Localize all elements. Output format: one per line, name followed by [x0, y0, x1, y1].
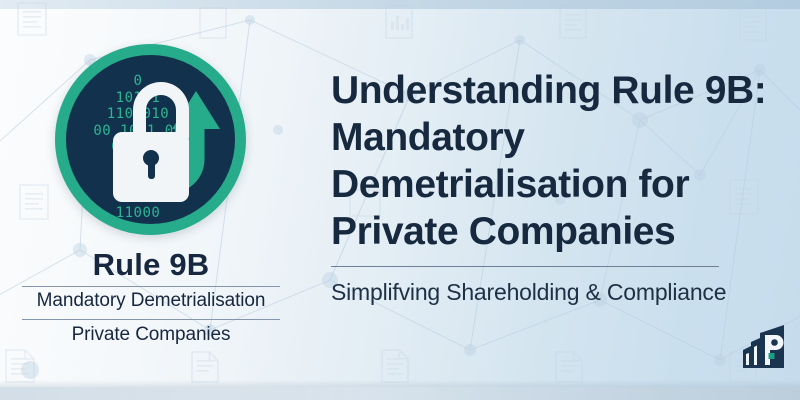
- headline-divider: [331, 266, 719, 267]
- brand-subtitle-secondary: Private Companies: [12, 320, 290, 348]
- page-title-line-2: Mandatory: [331, 114, 731, 161]
- document-watermark-icon: [20, 185, 48, 219]
- building-p-logo-icon: [740, 322, 788, 372]
- banner-graphic: 010101110101000 10 1 000010 001010100110…: [0, 0, 800, 400]
- document-watermark-icon: [730, 180, 758, 214]
- document-watermark-icon: [560, 6, 586, 38]
- bottom-band-shadow: [0, 380, 800, 387]
- padlock-keyhole: [143, 150, 159, 166]
- brand-lockup: Rule 9B Mandatory Demetrialisation Priva…: [12, 247, 290, 348]
- top-band: [0, 0, 800, 9]
- open-padlock-binary-circle-icon: 010101110101000 10 1 000010 001010100110…: [55, 44, 246, 235]
- page-title: Understanding Rule 9B: Mandatory Demetri…: [331, 67, 731, 255]
- document-watermark-icon: [740, 8, 766, 40]
- page-title-line-4: Private Companies: [331, 208, 731, 255]
- brand-title: Rule 9B: [12, 247, 290, 283]
- open-padlock-icon: [113, 82, 199, 202]
- document-watermark-icon: [192, 352, 218, 382]
- page-subtitle: Simplifving Shareholding & Compliance: [331, 277, 726, 307]
- document-watermark-icon: [200, 8, 226, 38]
- document-watermark-icon: [382, 350, 408, 382]
- document-watermark-icon: [556, 352, 582, 382]
- document-watermark-icon: [6, 350, 34, 382]
- document-watermark-icon: [386, 6, 412, 38]
- page-title-line-1: Understanding Rule 9B:: [331, 67, 731, 114]
- bottom-band: [0, 387, 800, 400]
- emblem-navy-core: 010101110101000 10 1 000010 001010100110…: [66, 55, 235, 224]
- page-title-line-3: Demetrialisation for: [331, 161, 731, 208]
- brand-subtitle: Mandatory Demetrialisation: [12, 287, 290, 316]
- padlock-shackle: [133, 82, 189, 138]
